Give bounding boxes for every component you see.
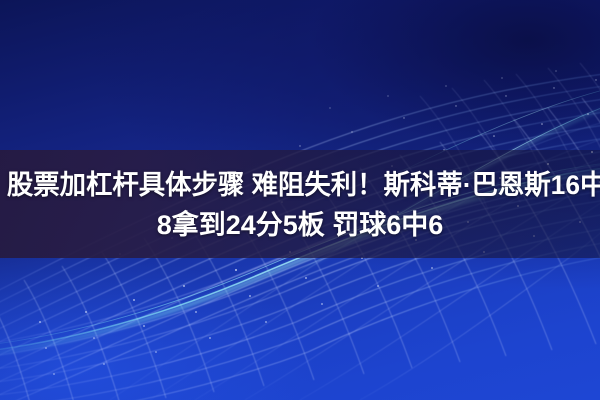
banner-image: 股票加杠杆具体步骤 难阻失利！斯科蒂·巴恩斯16中 8拿到24分5板 罚球6中6 — [0, 0, 600, 400]
headline-line-2: 8拿到24分5板 罚球6中6 — [0, 208, 600, 242]
headline-line-1: 股票加杠杆具体步骤 难阻失利！斯科蒂·巴恩斯16中 — [7, 168, 593, 202]
